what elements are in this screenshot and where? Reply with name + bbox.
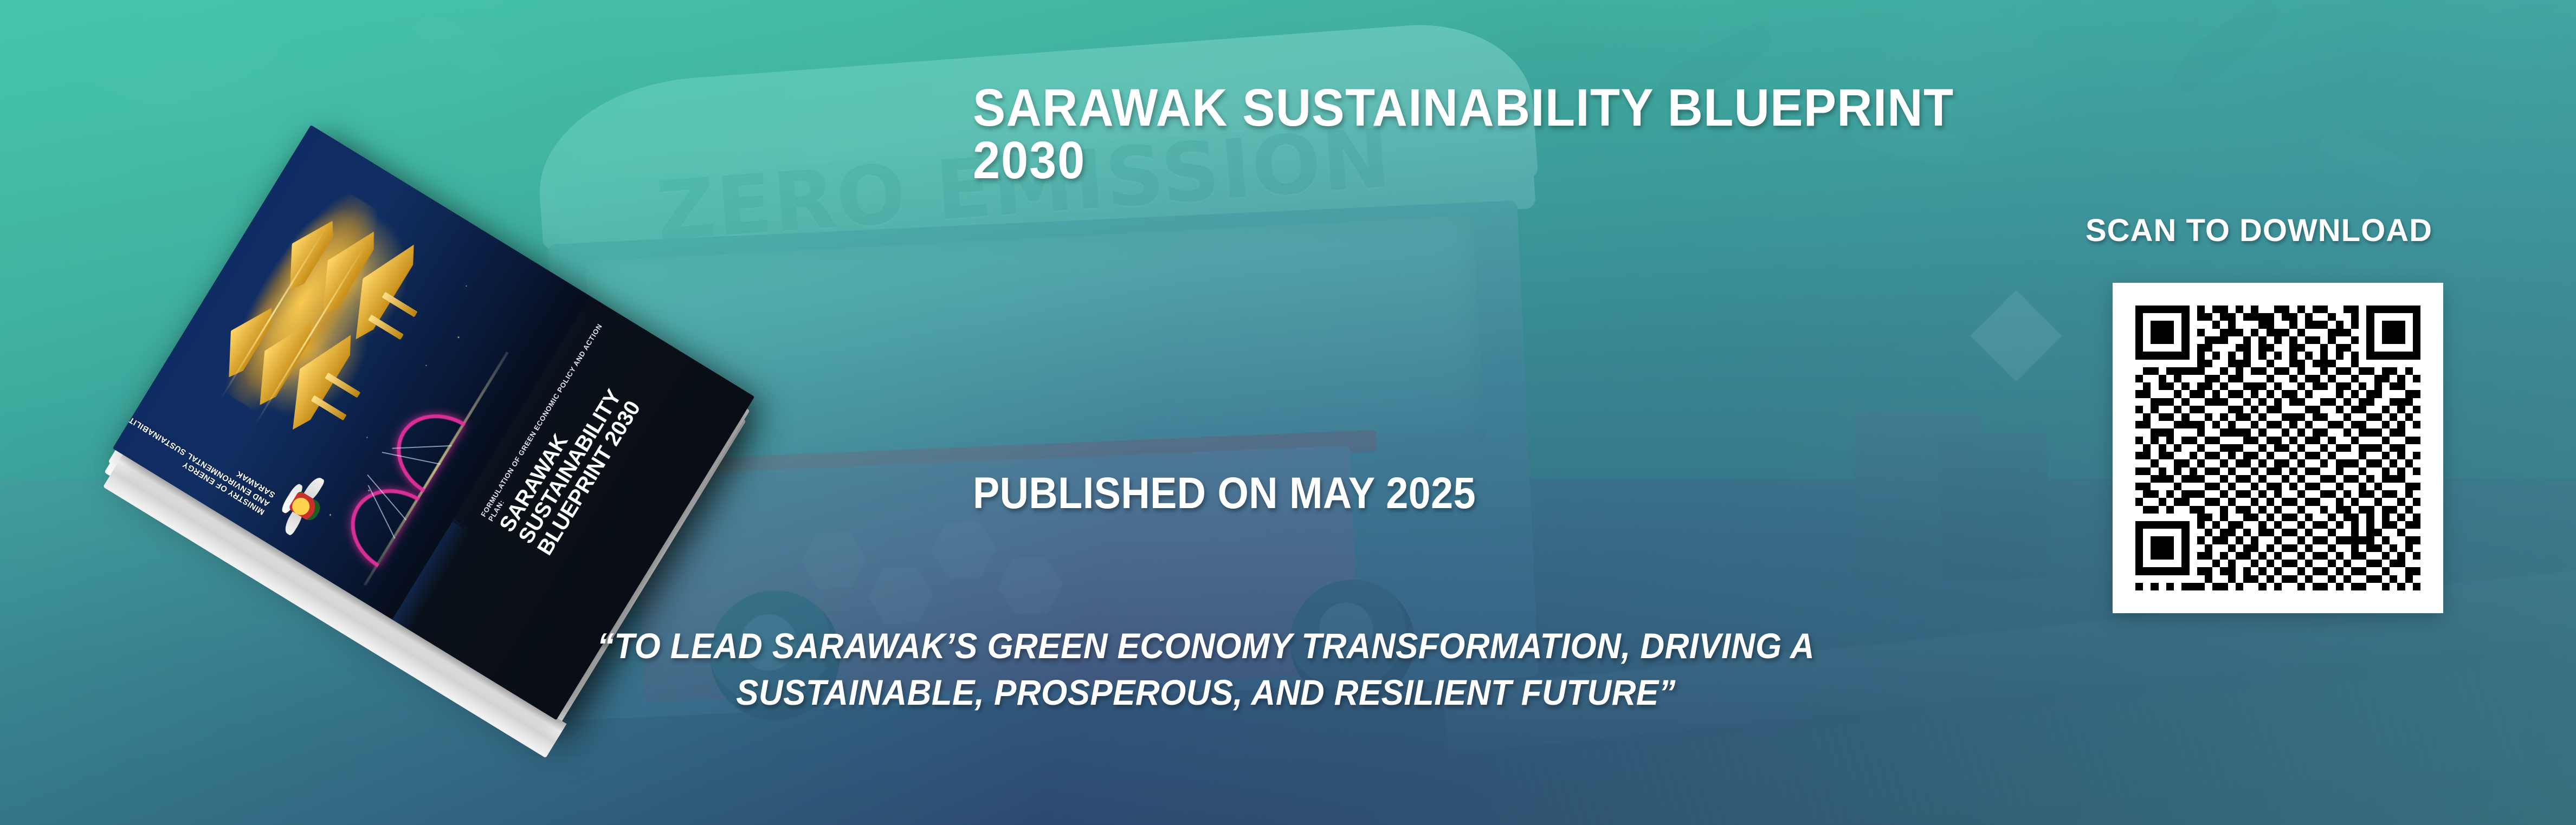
sarawak-blueprint-banner: ZERO EMISSION [0,0,2576,825]
quote-line-2: SUSTAINABLE, PROSPEROUS, AND RESILIENT F… [736,672,1676,712]
published-date: PUBLISHED ON MAY 2025 [973,471,1476,516]
headline-line-2: 2030 [973,134,2334,186]
banner-headline: SARAWAK SUSTAINABILITY BLUEPRINT 2030 [973,81,2334,186]
quote-line-1: “TO LEAD SARAWAK’S GREEN ECONOMY TRANSFO… [597,626,1815,666]
book-mockup: MINISTRY OF ENERGY AND ENVIRONMENTAL SUS… [81,65,813,704]
headline-line-1: SARAWAK SUSTAINABILITY BLUEPRINT [973,78,1954,137]
qr-code[interactable] [2135,306,2420,590]
vision-quote: “TO LEAD SARAWAK’S GREEN ECONOMY TRANSFO… [429,623,1983,716]
qr-code-card[interactable] [2113,283,2443,613]
scan-to-download-label: SCAN TO DOWNLOAD [2069,212,2449,249]
